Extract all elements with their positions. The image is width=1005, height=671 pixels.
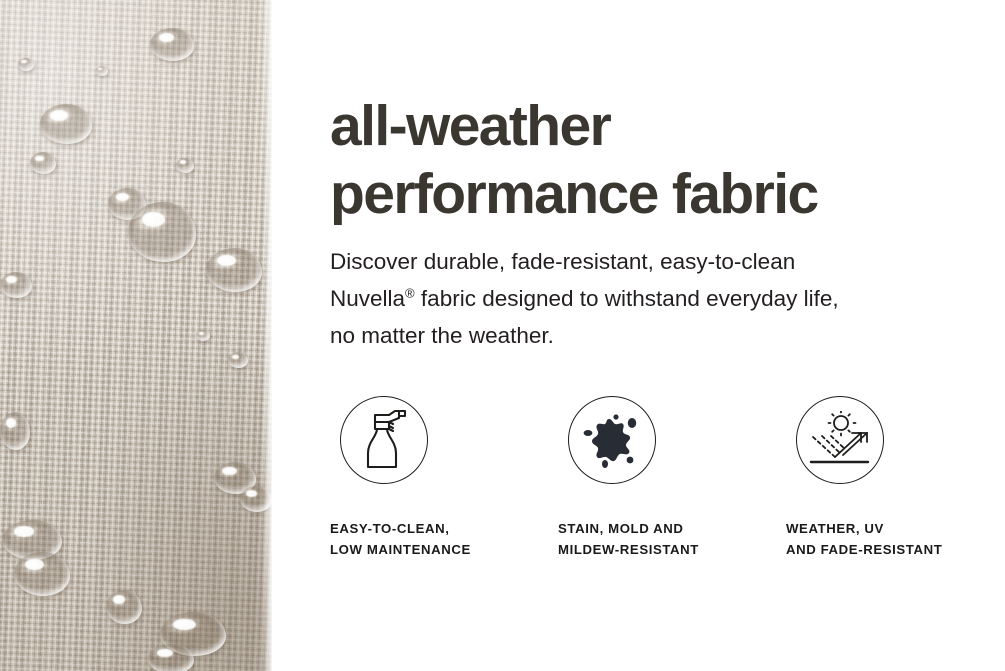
- spray-bottle-icon: [355, 409, 413, 471]
- brand-name: Nuvella: [330, 286, 405, 311]
- water-droplet: [14, 552, 70, 596]
- water-droplet: [106, 590, 142, 624]
- subcopy-line-3: no matter the weather.: [330, 323, 554, 348]
- feature-label: WEATHER, UV AND FADE-RESISTANT: [786, 518, 942, 560]
- water-droplet: [176, 158, 194, 173]
- subcopy-line-1: Discover durable, fade-resistant, easy-t…: [330, 249, 795, 274]
- stain-splatter-icon: [582, 411, 642, 469]
- icon-circle: [796, 396, 884, 484]
- feature-item: EASY-TO-CLEAN, LOW MAINTENANCE: [330, 396, 558, 560]
- icon-circle: [568, 396, 656, 484]
- promo-banner: all-weather performance fabric Discover …: [0, 0, 1005, 671]
- water-droplet: [148, 644, 194, 671]
- water-droplet: [228, 352, 248, 368]
- water-droplet: [0, 272, 32, 298]
- water-droplet: [196, 330, 210, 341]
- feature-list: EASY-TO-CLEAN, LOW MAINTENANCE: [330, 396, 990, 560]
- water-droplet: [18, 58, 34, 71]
- water-droplet: [128, 202, 196, 262]
- photo-edge-fade: [262, 0, 272, 671]
- water-droplet: [150, 28, 194, 61]
- water-droplet: [96, 66, 108, 76]
- fabric-photo: [0, 0, 272, 671]
- banner-content: all-weather performance fabric Discover …: [330, 0, 990, 671]
- water-droplet: [0, 412, 30, 450]
- feature-item: WEATHER, UV AND FADE-RESISTANT: [786, 396, 990, 560]
- registered-trademark-icon: ®: [405, 286, 415, 301]
- page-title: all-weather performance fabric: [330, 92, 818, 228]
- water-droplet: [206, 248, 262, 292]
- subcopy-line-2: fabric designed to withstand everyday li…: [415, 286, 839, 311]
- feature-label: EASY-TO-CLEAN, LOW MAINTENANCE: [330, 518, 471, 560]
- water-droplet: [30, 152, 56, 174]
- sun-uv-reflect-icon: [809, 411, 871, 469]
- feature-label: STAIN, MOLD AND MILDEW-RESISTANT: [558, 518, 699, 560]
- icon-circle: [340, 396, 428, 484]
- feature-item: STAIN, MOLD AND MILDEW-RESISTANT: [558, 396, 786, 560]
- water-droplet: [40, 104, 92, 144]
- banner-subcopy: Discover durable, fade-resistant, easy-t…: [330, 243, 960, 354]
